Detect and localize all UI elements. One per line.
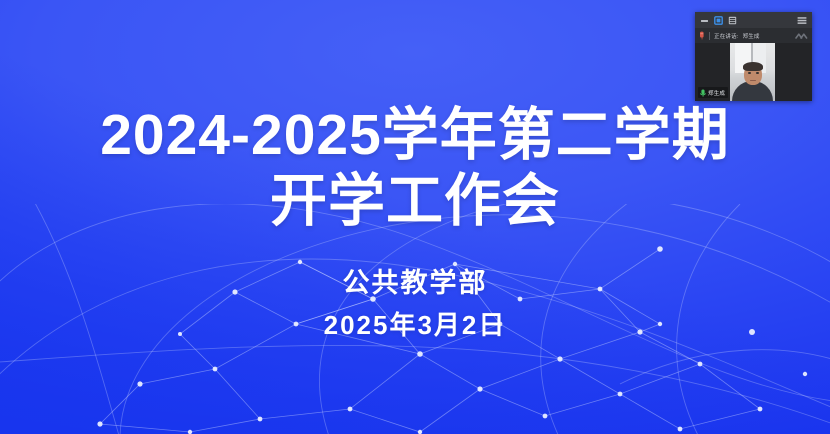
- more-menu-icon[interactable]: [797, 16, 807, 25]
- status-speaking-label: 正在讲话:: [714, 32, 739, 40]
- speaking-indicator-icon: [699, 31, 705, 40]
- double-chevron-icon[interactable]: [795, 32, 808, 40]
- presentation-screen: 2024-2025学年第二学期 开学工作会 公共教学部 2025年3月2日: [0, 0, 830, 434]
- participant-eye-right: [756, 72, 759, 74]
- slide-title-line-2: 开学工作会: [0, 168, 830, 234]
- participant-name-label: 郑生成: [708, 89, 725, 97]
- gallery-view-icon[interactable]: [728, 16, 737, 25]
- slide-title-line-1: 2024-2025学年第二学期: [0, 102, 830, 168]
- meeting-video-area[interactable]: 郑生成: [695, 43, 812, 101]
- slide-date: 2025年3月2日: [0, 309, 830, 341]
- microphone-icon: [700, 89, 706, 97]
- participant-hair: [743, 62, 763, 71]
- slide-organization: 公共教学部: [0, 266, 830, 300]
- status-speaker-name: 郑生成: [743, 32, 760, 40]
- participant-eye-left: [748, 72, 751, 74]
- meeting-status-bar: 正在讲话: 郑生成: [695, 28, 812, 43]
- participant-video-tile[interactable]: [730, 43, 775, 101]
- meeting-floating-window[interactable]: 正在讲话: 郑生成: [695, 12, 812, 101]
- participant-name-chip: 郑生成: [698, 87, 728, 98]
- minimize-icon[interactable]: [700, 16, 709, 25]
- meeting-window-toolbar: [695, 12, 812, 28]
- speaker-view-icon[interactable]: [714, 16, 723, 25]
- status-divider: [709, 32, 710, 40]
